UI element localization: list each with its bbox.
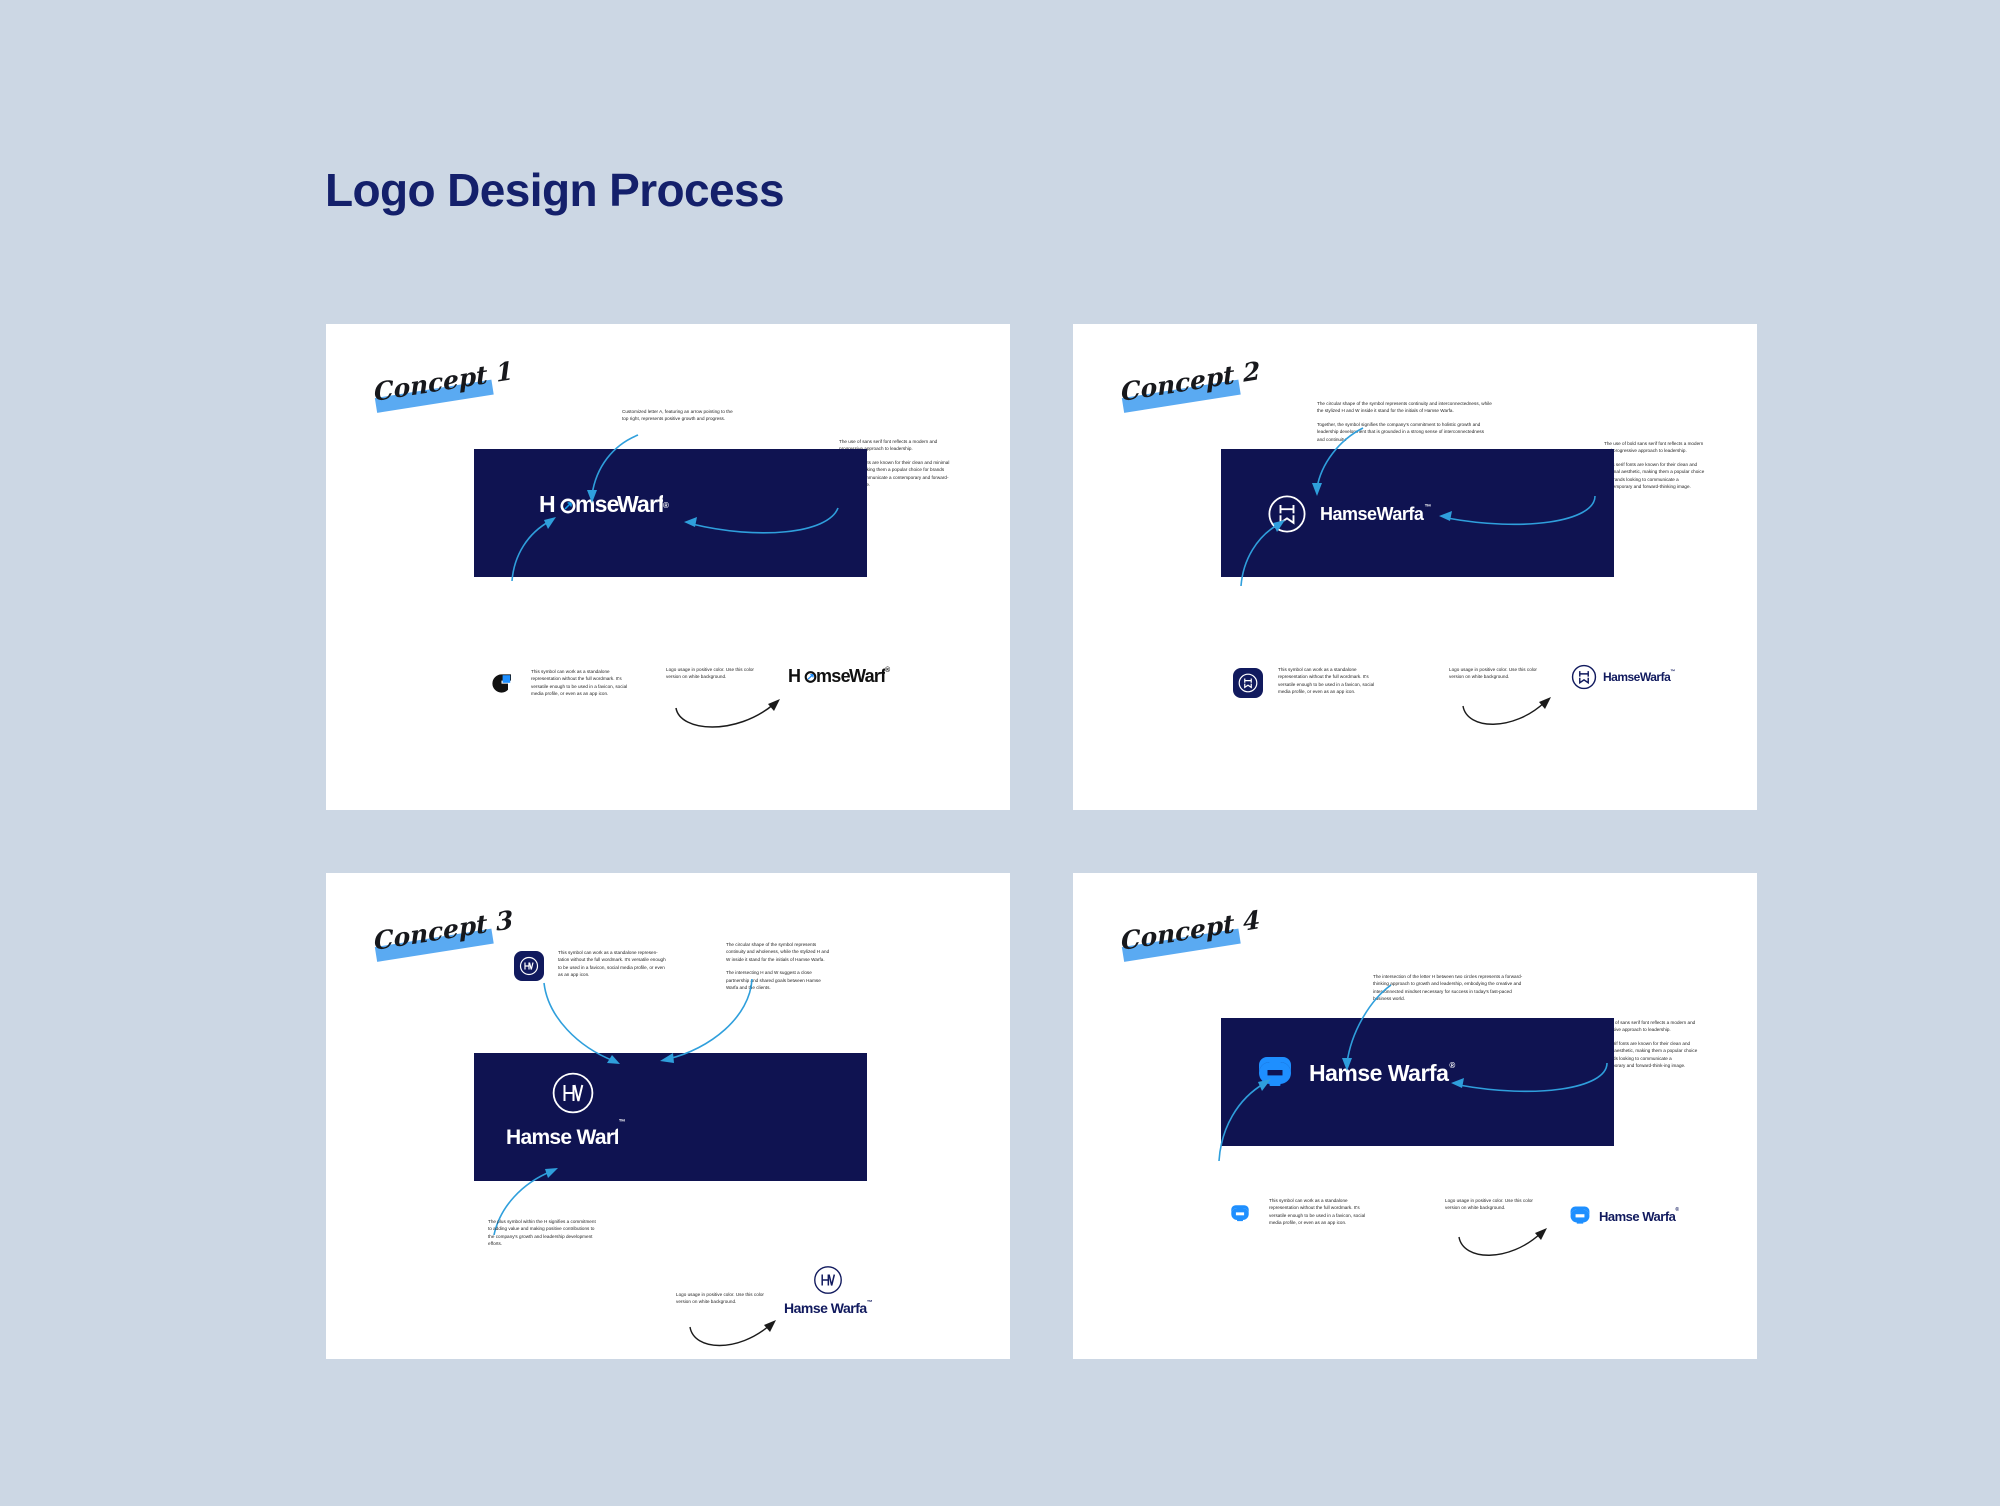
note-top-card2: The circular shape of the symbol represe… [1317,400,1493,443]
svg-text:H: H [539,492,555,517]
note-text: Sans serif fonts are known for their cle… [1604,461,1708,491]
note-symbol-card4: This symbol can work as a standalone rep… [1269,1197,1373,1227]
registered-mark: ® [663,501,669,510]
note-symbol-card2: This symbol can work as a standalone rep… [1278,666,1384,696]
note-symbol-card1: This symbol can work as a standalone rep… [531,668,639,698]
trademark-mark: ™ [619,1119,626,1126]
hamse-warfa-wordmark-icon: H mse Warfa [539,492,663,518]
note-usage-card1: Logo usage in positive color. Use this c… [666,666,766,681]
note-top-card4: The intersection of the letter H between… [1373,973,1525,1003]
circle-hw-monogram-icon [1238,673,1258,693]
concept-label-1: Concept 1 [374,370,504,422]
note-usage-card4: Logo usage in positive color. Use this c… [1445,1197,1541,1212]
hero-lockup-card2: HamseWarfa ™ [1267,494,1431,534]
note-text: This symbol can work as a standalone rep… [558,949,668,979]
svg-text:H: H [788,666,800,686]
h-between-circles-mark-icon [1228,1202,1252,1226]
note-text: The use of bold sans serif font reflects… [1604,440,1708,455]
concept-label-2: Concept 2 [1121,370,1251,422]
note-right-card2: The use of bold sans serif font reflects… [1604,440,1708,491]
hero-band-card1 [474,449,867,577]
note-text: The intersection of the letter H between… [1373,973,1525,1003]
circle-hw-plus-monogram-icon [551,1071,595,1115]
footer-lockup-card3: Hamse Warfa ™ [784,1265,872,1316]
concept-card-3[interactable]: Concept 3 This symbol can work as a stan… [326,873,1010,1359]
concept-card-2[interactable]: Concept 2 The circular shape of the symb… [1073,324,1757,810]
note-plus-card3: The plus symbol within the H signifies a… [488,1218,600,1248]
wordmark-text: Hamse Warfa [1309,1060,1448,1087]
letter-a-arrow-mark-icon [491,673,512,694]
wordmark-text: HamseWarfa [1603,670,1670,684]
note-top-card1: Customized letter A, featuring an arrow … [622,408,740,423]
circle-hw-plus-monogram-icon [519,956,539,976]
h-between-circles-mark-icon [1253,1051,1297,1095]
registered-mark: ® [1675,1207,1678,1213]
wordmark-text: Hamse Warfa [784,1300,867,1316]
registered-mark: ® [1449,1061,1454,1070]
svg-text:Warfa: Warfa [617,492,663,517]
curved-arrow-icon [1457,690,1557,736]
footer-lockup-card2: HamseWarfa ™ [1571,664,1675,690]
concept-card-1[interactable]: Concept 1 Customized letter A, featuring… [326,324,1010,810]
note-right-card3: The circular shape of the symbol represe… [726,941,834,992]
svg-text:mse: mse [816,666,851,686]
note-text: Logo usage in positive color. Use this c… [666,666,766,681]
curved-arrow-icon [684,1313,782,1357]
note-usage-card3: Logo usage in positive color. Use this c… [676,1291,770,1306]
svg-text:mse: mse [575,492,619,517]
concept-label-4: Concept 4 [1121,919,1251,971]
hamse-warfa-wordmark-icon: Hamse Warfa [506,1125,618,1149]
trademark-mark: ™ [867,1300,873,1306]
note-text: This symbol can work as a standalone rep… [1269,1197,1373,1227]
note-usage-card2: Logo usage in positive color. Use this c… [1449,666,1541,681]
circle-hw-monogram-icon [1571,664,1597,690]
svg-text:Hamse Warfa: Hamse Warfa [506,1126,618,1149]
registered-mark: ® [885,667,890,674]
circle-hw-plus-monogram-icon [813,1265,843,1295]
svg-text:Warfa: Warfa [849,666,885,686]
curved-arrow-icon [670,692,788,740]
app-icon-tile-card1[interactable] [486,668,516,698]
note-text: This symbol can work as a standalone rep… [1278,666,1384,696]
circle-hw-monogram-icon [1267,494,1307,534]
curved-arrow-icon [1453,1221,1553,1267]
note-text: This symbol can work as a standalone rep… [531,668,639,698]
footer-wordmark-card1: H mse Warfa ® [788,666,890,686]
app-icon-tile-card4[interactable] [1225,1199,1255,1229]
wordmark-text: HamseWarfa [1320,504,1423,525]
note-symbol-card3: This symbol can work as a standalone rep… [558,949,668,979]
note-text: The intersecting H and W suggest a close… [726,969,834,991]
note-text: The plus symbol within the H signifies a… [488,1218,600,1248]
hero-lockup-card3: Hamse Warfa ™ [528,1071,618,1155]
app-icon-tile-card2[interactable] [1233,668,1263,698]
concept-card-4[interactable]: Concept 4 The intersection of the letter… [1073,873,1757,1359]
note-text: The circular shape of the symbol represe… [726,941,834,963]
trademark-mark: ™ [1670,669,1675,675]
note-text: Together, the symbol signifies the compa… [1317,421,1493,443]
note-text: The circular shape of the symbol represe… [1317,400,1493,415]
hero-lockup-card4: Hamse Warfa ® [1253,1051,1455,1095]
note-text: Customized letter A, featuring an arrow … [622,408,740,423]
note-text: Logo usage in positive color. Use this c… [1449,666,1541,681]
wordmark-text: Hamse Warfa [1599,1209,1675,1224]
note-text: Logo usage in positive color. Use this c… [676,1291,770,1306]
page-title: Logo Design Process [325,163,784,217]
footer-lockup-card4: Hamse Warfa ® [1567,1203,1679,1229]
note-text: Logo usage in positive color. Use this c… [1445,1197,1541,1212]
hamse-warfa-wordmark-icon: H mse Warfa [788,666,885,686]
trademark-mark: ™ [1424,504,1431,511]
app-icon-tile-card3[interactable] [514,951,544,981]
h-between-circles-mark-icon [1567,1203,1593,1229]
logo-design-process-page: Logo Design Process Concept 1 Customized… [0,0,2000,1506]
concept-label-3: Concept 3 [374,919,504,971]
hero-wordmark-card1: H mse Warfa ® [539,492,669,518]
